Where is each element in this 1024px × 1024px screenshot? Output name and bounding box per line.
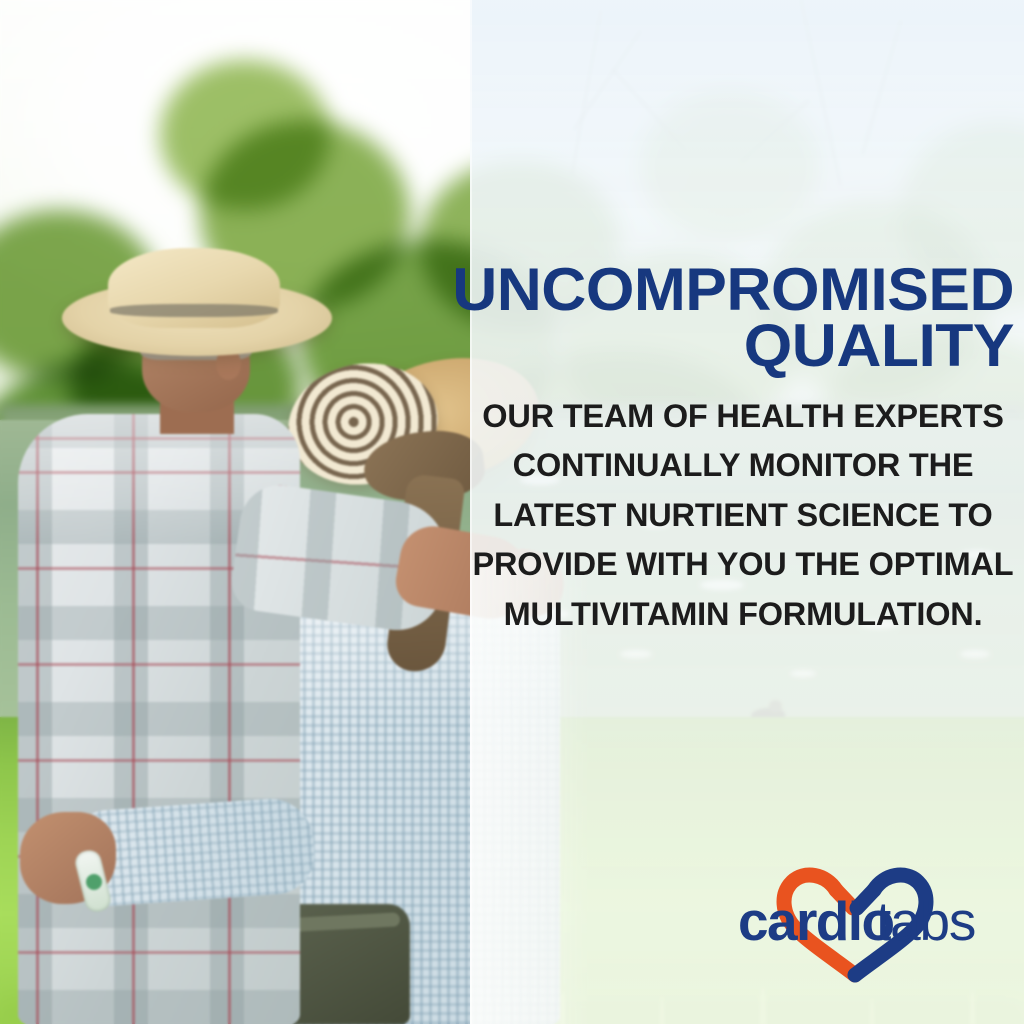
woman-bracelet-bead xyxy=(86,874,102,890)
body-copy: OUR TEAM OF HEALTH EXPERTS CONTINUALLY M… xyxy=(462,392,1024,639)
body-line-3: LATEST NURTIENT SCIENCE TO xyxy=(462,491,1024,540)
logo-wordmark-cardio: cardio xyxy=(738,890,893,952)
headline-line-2: QUALITY xyxy=(407,318,1014,374)
body-line-4: PROVIDE WITH YOU THE OPTIMAL xyxy=(462,540,1024,589)
body-line-1: OUR TEAM OF HEALTH EXPERTS xyxy=(462,392,1024,441)
body-line-5: MULTIVITAMIN FORMULATION. xyxy=(462,590,1024,639)
page-title: UNCOMPROMISED QUALITY xyxy=(407,262,1014,375)
logo-wordmark-tabs: tabs xyxy=(876,890,975,952)
poster-canvas: UNCOMPROMISED QUALITY OUR TEAM OF HEALTH… xyxy=(0,0,1024,1024)
body-line-2: CONTINUALLY MONITOR THE xyxy=(462,441,1024,490)
headline-line-1: UNCOMPROMISED xyxy=(407,262,1014,318)
cardiotabs-logo: cardio tabs xyxy=(700,850,1010,990)
man-hat-band xyxy=(110,304,278,317)
